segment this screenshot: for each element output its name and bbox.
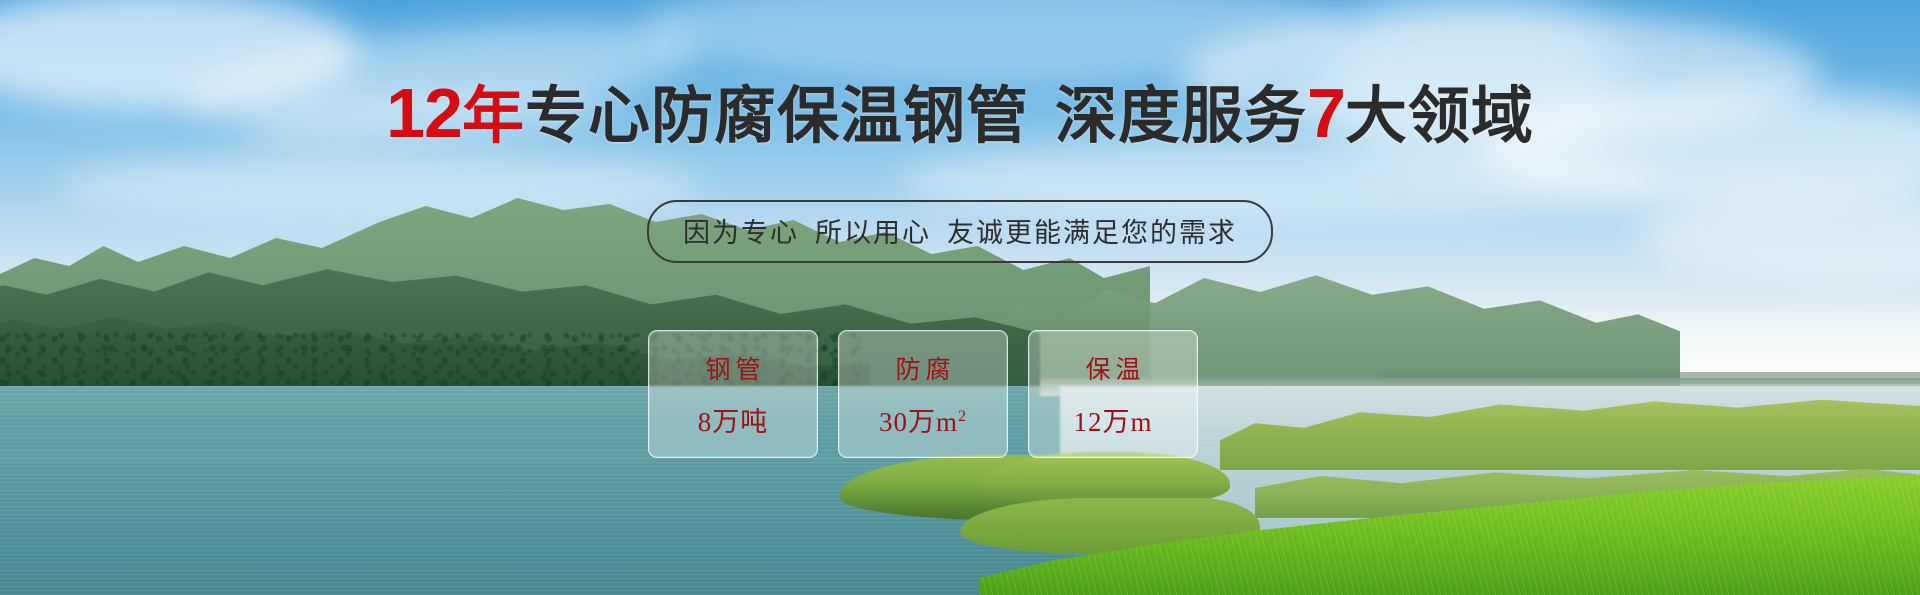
headline-years-unit: 年	[462, 82, 525, 151]
subtitle-part-3: 友诚更能满足您的需求	[947, 218, 1237, 248]
stat-card-value-text: 8万吨	[698, 407, 769, 437]
stat-card-title: 保温	[1080, 350, 1145, 386]
stat-card-insulation: 保温 12万m	[1028, 330, 1198, 458]
subtitle-pill: 因为专心所以用心友诚更能满足您的需求	[647, 200, 1273, 263]
stat-card-value-text: 12万m	[1073, 407, 1152, 437]
page-title: 12年专心防腐保温钢管深度服务7大领域	[0, 78, 1920, 148]
stat-card-title: 防腐	[890, 350, 955, 386]
stat-card-steel-pipe: 钢管 8万吨	[648, 330, 818, 458]
stat-card-group: 钢管 8万吨 防腐 30万m2 保温 12万m	[648, 330, 1198, 458]
stat-card-value-sup: 2	[958, 408, 967, 425]
stat-card-value-text: 30万m	[879, 407, 958, 437]
stat-card-anticorrosion: 防腐 30万m2	[838, 330, 1008, 458]
subtitle-part-1: 因为专心	[683, 218, 799, 248]
stat-card-value: 12万m	[1073, 400, 1152, 439]
stat-card-value: 8万吨	[698, 400, 769, 439]
headline-service-text: 深度服务	[1055, 82, 1307, 151]
headline-fields-number: 7	[1307, 74, 1345, 152]
headline-years-number: 12	[386, 74, 462, 152]
headline-fields-text: 大领域	[1345, 82, 1534, 151]
subtitle-part-2: 所以用心	[815, 218, 931, 248]
stat-card-value: 30万m2	[879, 400, 967, 439]
hero-banner: 12年专心防腐保温钢管深度服务7大领域 因为专心所以用心友诚更能满足您的需求 钢…	[0, 0, 1920, 595]
stat-card-title: 钢管	[700, 350, 765, 386]
headline-main-text: 专心防腐保温钢管	[525, 82, 1029, 151]
